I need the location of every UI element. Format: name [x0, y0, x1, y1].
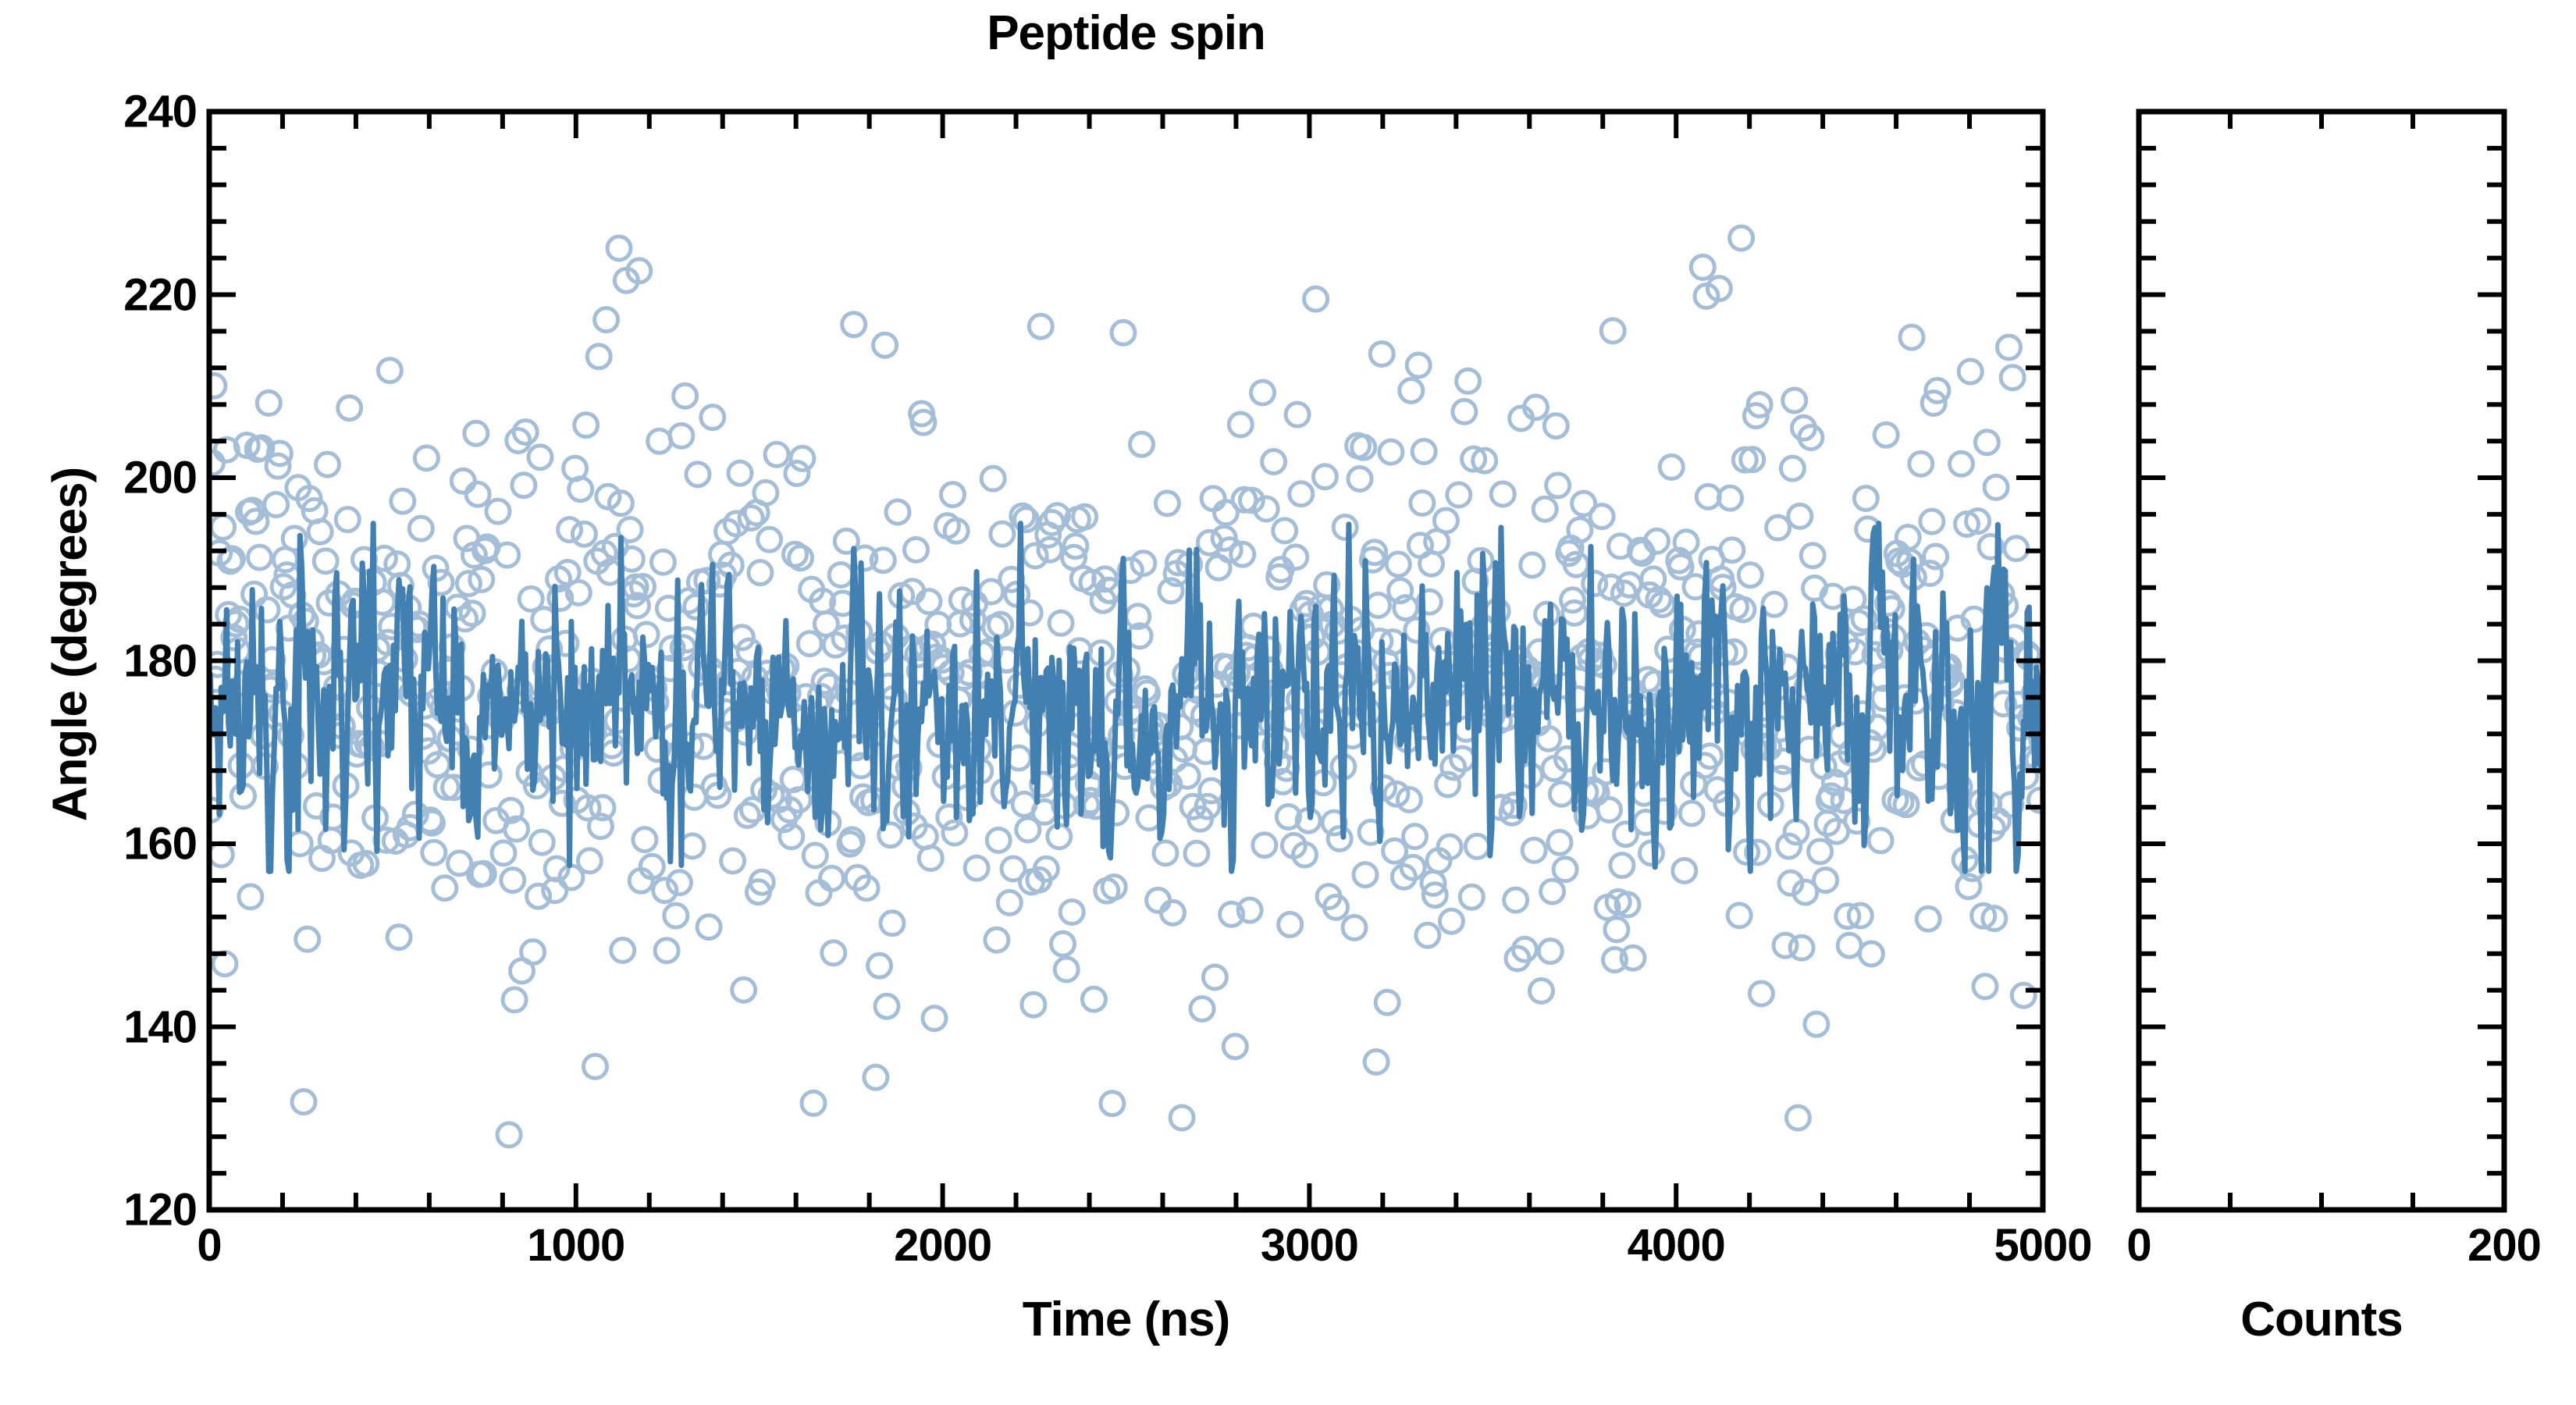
- x-axis-title: Time (ns): [209, 1292, 2043, 1347]
- y-tick-label: 180: [2, 635, 197, 687]
- y-axis-title: Angle (degrees): [43, 91, 98, 1199]
- y-tick-label: 120: [2, 1184, 197, 1236]
- x-tick-label: 3000: [1261, 1219, 1358, 1272]
- histogram-x-axis-title: Counts: [2139, 1292, 2504, 1347]
- y-tick-label: 220: [2, 269, 197, 321]
- figure-root: Peptide spin 120140160180200220240 01000…: [0, 0, 2576, 1405]
- y-axis-tick-labels: 120140160180200220240: [0, 0, 197, 1405]
- histogram-x-tick-label: 200: [2467, 1219, 2541, 1272]
- histogram-axes-frame: [2139, 112, 2504, 1210]
- y-tick-label: 160: [2, 818, 197, 870]
- x-tick-label: 4000: [1628, 1219, 1725, 1272]
- time-series-plot: [0, 0, 2108, 1264]
- x-tick-label: 0: [197, 1219, 221, 1272]
- y-tick-label: 240: [2, 86, 197, 138]
- x-tick-label: 1000: [527, 1219, 624, 1272]
- histogram-x-tick-label: 0: [2126, 1219, 2151, 1272]
- y-tick-label: 140: [2, 1001, 197, 1053]
- x-tick-label: 2000: [894, 1219, 991, 1272]
- x-tick-label: 5000: [1994, 1219, 2091, 1272]
- y-tick-label: 200: [2, 452, 197, 504]
- counts-histogram-plot: [2108, 0, 2576, 1264]
